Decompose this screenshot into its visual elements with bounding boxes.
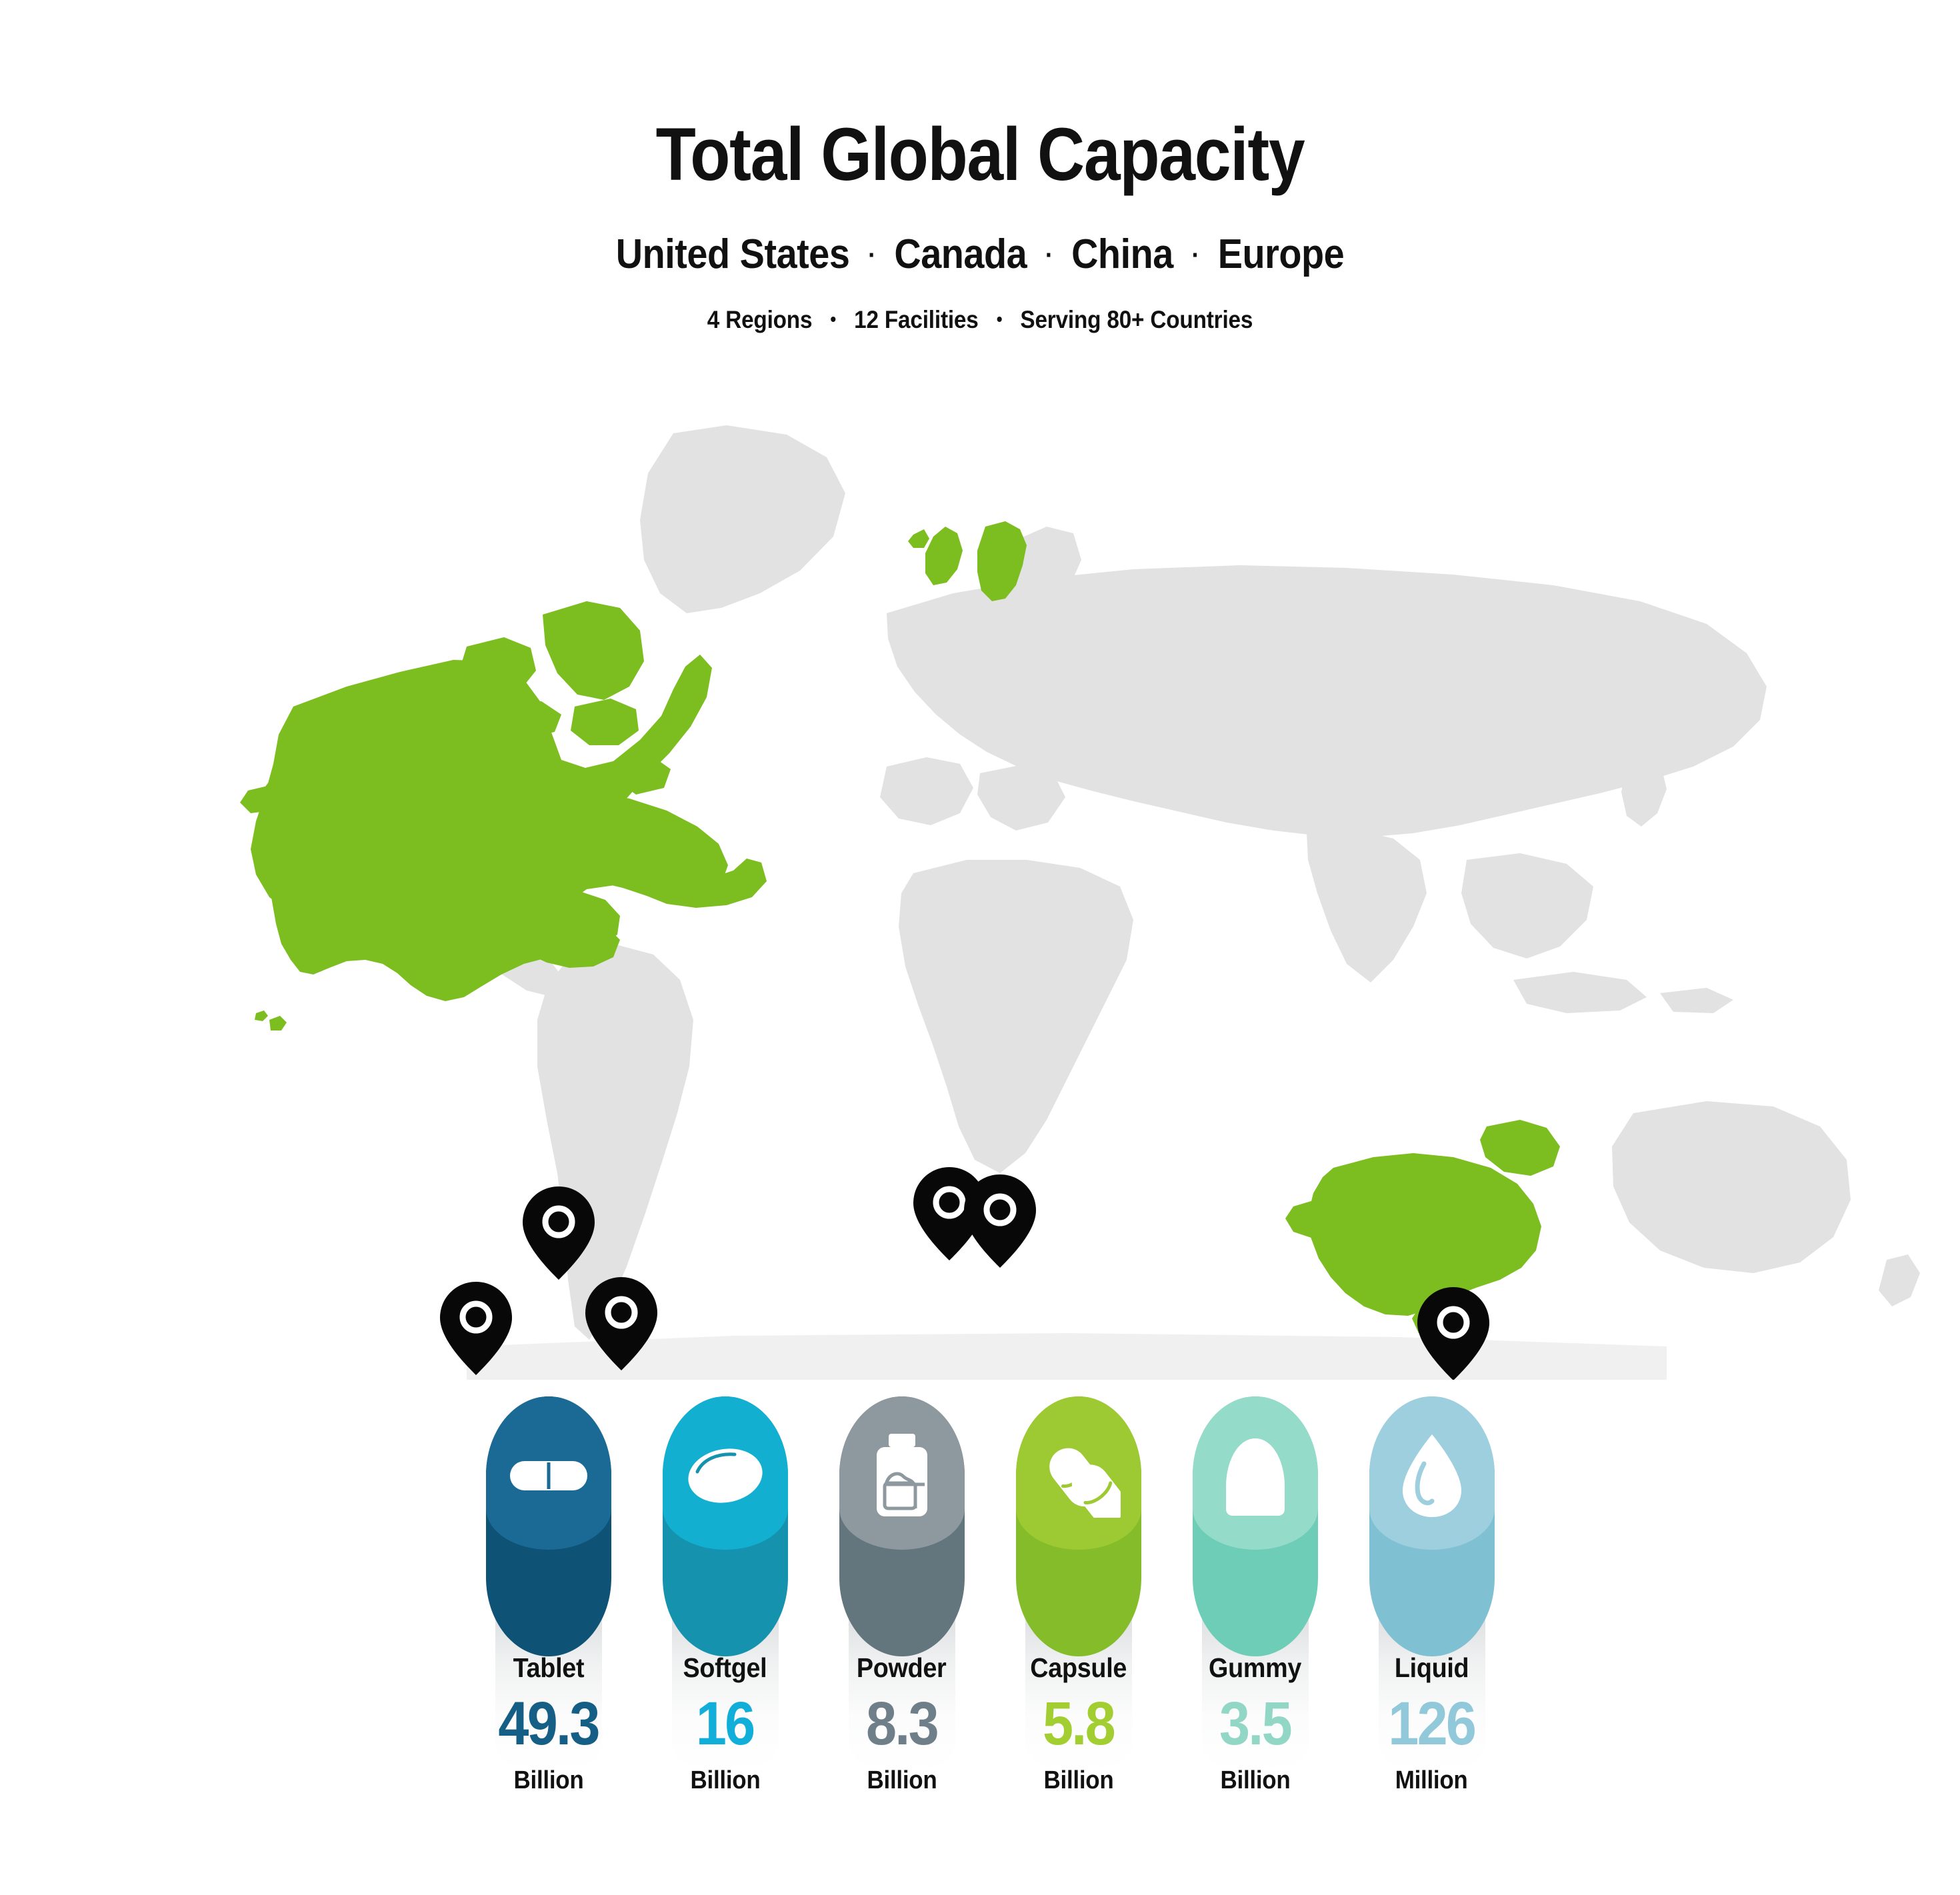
gummy-drop-icon [1193,1419,1318,1532]
summary-stats: 4 Regions • 12 Facilities • Serving 80+ … [98,306,1862,334]
card-unit: Billion [1220,1766,1290,1795]
infographic-page: Total Global Capacity United States · Ca… [0,0,1960,1895]
capacity-card-tablet[interactable]: Tablet 49.3 Billion [460,1396,637,1795]
card-unit: Billion [513,1766,583,1795]
capacity-card-liquid[interactable]: Liquid 126 Million [1343,1396,1520,1795]
region-canada: Canada [894,231,1027,277]
card-value: 8.3 [866,1693,937,1754]
pin-germany[interactable] [964,1174,1036,1268]
world-map [0,393,1960,1380]
capacity-card-gummy[interactable]: Gummy 3.5 Billion [1167,1396,1343,1795]
region-separator: · [1183,241,1208,270]
card-unit: Million [1395,1766,1468,1795]
capacity-cards: Tablet 49.3 Billion Softgel 16 [460,1396,1580,1810]
card-unit: Billion [1043,1766,1113,1795]
gummy-pill-graphic [1193,1396,1318,1656]
softgel-capsule-icon [663,1419,788,1532]
header: Total Global Capacity United States · Ca… [0,0,1960,334]
capsule-pill-graphic [1016,1396,1141,1656]
region-separator: · [1037,241,1061,270]
capacity-card-capsule[interactable]: Capsule 5.8 Billion [990,1396,1167,1795]
capacity-card-softgel[interactable]: Softgel 16 Billion [637,1396,813,1795]
card-value: 3.5 [1219,1693,1291,1754]
two-capsules-icon [1016,1419,1141,1532]
card-label: Liquid [1395,1652,1469,1684]
regions-list: United States · Canada · China · Europe [98,231,1862,278]
summary-separator: • [985,309,1015,329]
card-value: 5.8 [1043,1693,1114,1754]
stat-countries: Serving 80+ Countries [1020,306,1253,333]
softgel-pill-graphic [663,1396,788,1656]
page-title: Total Global Capacity [117,117,1842,192]
region-europe: Europe [1218,231,1345,277]
summary-separator: • [818,309,848,329]
region-united-states: United States [616,231,850,277]
region-separator: · [860,241,885,270]
water-droplet-icon [1369,1419,1495,1532]
stat-regions: 4 Regions [707,306,813,333]
capacity-card-powder[interactable]: Powder 8.3 Billion [813,1396,990,1795]
card-unit: Billion [867,1766,937,1795]
liquid-pill-graphic [1369,1396,1495,1656]
card-label: Tablet [513,1652,584,1684]
card-label: Gummy [1209,1652,1301,1684]
tablet-pill-icon [486,1419,611,1532]
card-label: Capsule [1030,1652,1127,1684]
card-value: 49.3 [498,1693,598,1754]
region-china: China [1071,231,1173,277]
card-label: Softgel [683,1652,767,1684]
stat-facilities: 12 Facilities [854,306,978,333]
card-label: Powder [857,1652,947,1684]
powder-pill-graphic [839,1396,965,1656]
tablet-pill-graphic [486,1396,611,1656]
card-unit: Billion [690,1766,760,1795]
powder-jar-scoop-icon [839,1419,965,1532]
card-value: 126 [1388,1693,1475,1754]
card-value: 16 [696,1693,754,1754]
